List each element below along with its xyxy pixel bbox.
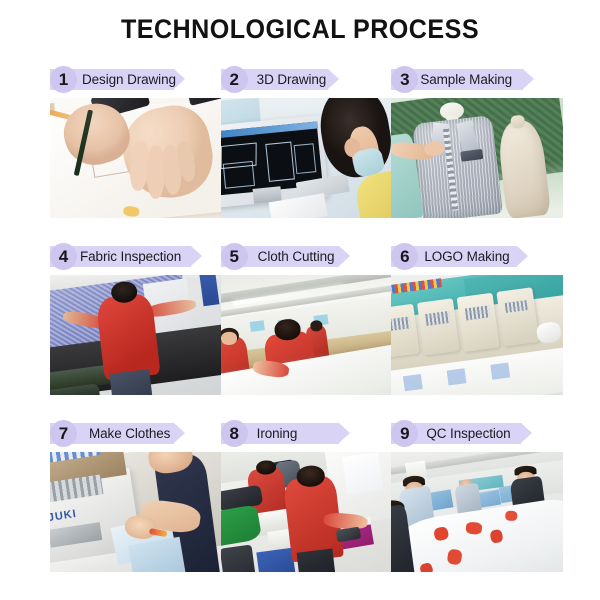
photo-cloth-cutting bbox=[221, 275, 393, 395]
step-card-9[interactable]: 9 QC Inspection bbox=[391, 420, 562, 597]
step-banner-9: 9 QC Inspection bbox=[391, 420, 557, 447]
step-number-7: 7 bbox=[59, 425, 68, 442]
step-number-badge-1: 1 bbox=[50, 66, 77, 93]
step-card-6[interactable]: 6 LOGO Making bbox=[391, 243, 562, 420]
step-number-6: 6 bbox=[400, 248, 409, 265]
step-banner-6: 6 LOGO Making bbox=[391, 243, 557, 270]
step-card-4[interactable]: 4 Fabric Inspection bbox=[50, 243, 221, 420]
page-title: TECHNOLOGICAL PROCESS bbox=[21, 14, 579, 45]
step-label-3: Sample Making bbox=[420, 69, 512, 90]
steps-row: 7 Make Clothes JUKI bbox=[50, 420, 562, 597]
photo-ironing bbox=[221, 452, 393, 572]
photo-make-clothes: JUKI bbox=[50, 452, 222, 572]
step-number-4: 4 bbox=[59, 248, 68, 265]
step-number-3: 3 bbox=[400, 71, 409, 88]
photo-qc-inspection bbox=[391, 452, 563, 572]
step-label-4: Fabric Inspection bbox=[80, 246, 181, 267]
step-banner-3: 3 Sample Making bbox=[391, 66, 557, 93]
step-label-6: LOGO Making bbox=[424, 246, 509, 267]
photo-sample-making bbox=[391, 98, 563, 218]
step-number-badge-5: 5 bbox=[221, 243, 248, 270]
step-number-9: 9 bbox=[400, 425, 409, 442]
step-card-8[interactable]: 8 Ironing bbox=[221, 420, 392, 597]
step-label-5: Cloth Cutting bbox=[258, 246, 335, 267]
step-banner-4: 4 Fabric Inspection bbox=[50, 243, 216, 270]
step-banner-5: 5 Cloth Cutting bbox=[221, 243, 387, 270]
step-label-7: Make Clothes bbox=[89, 423, 170, 444]
photo-design-drawing bbox=[50, 98, 222, 218]
step-card-7[interactable]: 7 Make Clothes JUKI bbox=[50, 420, 221, 597]
step-banner-7: 7 Make Clothes bbox=[50, 420, 216, 447]
step-label-8: Ironing bbox=[257, 423, 298, 444]
step-card-3[interactable]: 3 Sample Making bbox=[391, 66, 562, 243]
step-number-5: 5 bbox=[229, 248, 238, 265]
photo-fabric-inspection bbox=[50, 275, 222, 395]
photo-logo-making bbox=[391, 275, 563, 395]
step-number-badge-4: 4 bbox=[50, 243, 77, 270]
step-banner-2: 2 3D Drawing bbox=[221, 66, 387, 93]
step-banner-8: 8 Ironing bbox=[221, 420, 387, 447]
step-label-2: 3D Drawing bbox=[257, 69, 327, 90]
photo-3d-drawing bbox=[221, 98, 393, 218]
step-number-8: 8 bbox=[229, 425, 238, 442]
steps-row: 4 Fabric Inspection bbox=[50, 243, 562, 420]
step-label-9: QC Inspection bbox=[426, 423, 510, 444]
step-number-badge-7: 7 bbox=[50, 420, 77, 447]
step-card-1[interactable]: 1 Design Drawing bbox=[50, 66, 221, 243]
steps-row: 1 Design Drawing bbox=[50, 66, 562, 243]
step-number-1: 1 bbox=[59, 71, 68, 88]
technological-process-infographic: TECHNOLOGICAL PROCESS 1 Design Drawing bbox=[0, 0, 600, 600]
step-number-badge-2: 2 bbox=[221, 66, 248, 93]
step-number-2: 2 bbox=[229, 71, 238, 88]
steps-grid: 1 Design Drawing bbox=[50, 66, 562, 597]
step-card-2[interactable]: 2 3D Drawing bbox=[221, 66, 392, 243]
step-label-1: Design Drawing bbox=[82, 69, 176, 90]
step-number-badge-8: 8 bbox=[221, 420, 248, 447]
step-banner-1: 1 Design Drawing bbox=[50, 66, 216, 93]
step-card-5[interactable]: 5 Cloth Cutting bbox=[221, 243, 392, 420]
